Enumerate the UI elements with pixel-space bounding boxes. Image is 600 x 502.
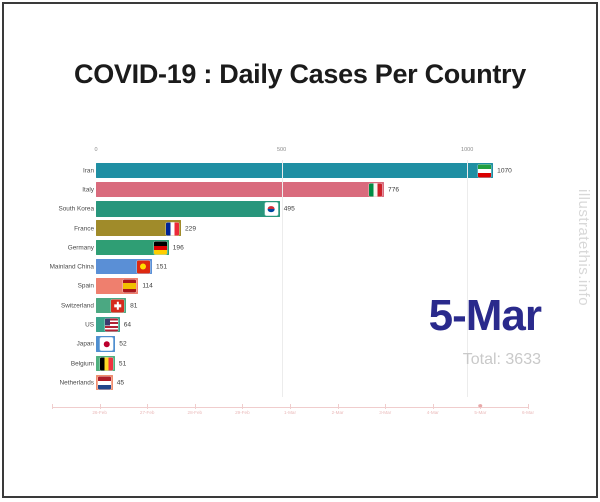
flag-graphic bbox=[123, 280, 136, 293]
bar-row[interactable]: France229 bbox=[34, 219, 534, 238]
timeline-tick-label: 4-Mar bbox=[427, 410, 439, 415]
flag-icon-japan bbox=[100, 338, 113, 351]
timeline-tick-label: 26-Feb bbox=[92, 410, 107, 415]
bar-value-label: 52 bbox=[119, 341, 126, 348]
bar-value-label: 64 bbox=[124, 322, 131, 329]
flag-graphic bbox=[105, 319, 118, 332]
timeline-tick bbox=[100, 404, 101, 409]
bar-fill[interactable] bbox=[96, 163, 493, 178]
timeline-tick bbox=[385, 404, 386, 409]
x-axis-ticks: 05001000 bbox=[34, 147, 534, 161]
flag-graphic bbox=[98, 376, 111, 389]
flag-icon-italy bbox=[369, 183, 382, 196]
flag-icon-iran bbox=[478, 164, 491, 177]
bar-country-label: Switzerland bbox=[61, 302, 94, 309]
timeline-tick-label: 6-Mar bbox=[522, 410, 534, 415]
bar-row[interactable]: Netherlands45 bbox=[34, 373, 534, 392]
timeline-tick bbox=[433, 404, 434, 409]
x-tick-label: 0 bbox=[94, 147, 97, 153]
current-date-label: 5-Mar bbox=[429, 294, 541, 338]
flag-icon-china bbox=[137, 261, 150, 274]
bar-row[interactable]: Iran1070 bbox=[34, 161, 534, 180]
timeline-tick bbox=[195, 404, 196, 409]
bar-fill[interactable] bbox=[96, 201, 280, 216]
flag-icon-netherlands bbox=[98, 376, 111, 389]
flag-graphic bbox=[478, 164, 491, 177]
timeline-tick bbox=[290, 404, 291, 409]
bar-value-label: 229 bbox=[185, 225, 196, 232]
flag-graphic bbox=[100, 338, 113, 351]
watermark-text: illustratethis.info bbox=[568, 189, 592, 389]
x-tick-label: 500 bbox=[277, 147, 286, 153]
bar-fill[interactable] bbox=[96, 182, 384, 197]
bar-country-label: Germany bbox=[68, 244, 94, 251]
bar-country-label: US bbox=[85, 322, 94, 329]
page-title: COVID-19 : Daily Cases Per Country bbox=[4, 59, 596, 90]
bar-row[interactable]: Mainland China151 bbox=[34, 257, 534, 276]
flag-icon-skorea bbox=[265, 203, 278, 216]
timeline-position-marker[interactable] bbox=[479, 404, 483, 408]
bar-country-label: Spain bbox=[78, 283, 94, 290]
bar-country-label: Netherlands bbox=[60, 379, 94, 386]
timeline-tick bbox=[242, 404, 243, 409]
bar-country-label: Iran bbox=[83, 167, 94, 174]
flag-icon-swiss bbox=[111, 299, 124, 312]
timeline-scrubber[interactable]: 26-Feb27-Feb28-Feb29-Feb1-Mar2-Mar3-Mar4… bbox=[52, 404, 528, 424]
timeline-tick bbox=[338, 404, 339, 409]
chart-frame: COVID-19 : Daily Cases Per Country illus… bbox=[2, 2, 598, 498]
flag-graphic bbox=[265, 203, 278, 216]
flag-icon-germany bbox=[154, 241, 167, 254]
flag-graphic bbox=[100, 357, 113, 370]
bar-country-label: South Korea bbox=[58, 206, 94, 213]
bar-country-label: Italy bbox=[82, 186, 94, 193]
flag-graphic bbox=[369, 183, 382, 196]
bar-value-label: 776 bbox=[388, 186, 399, 193]
bar-value-label: 495 bbox=[284, 206, 295, 213]
bar-country-label: France bbox=[74, 225, 94, 232]
flag-icon-spain bbox=[123, 280, 136, 293]
bar-value-label: 45 bbox=[117, 379, 124, 386]
flag-icon-france bbox=[166, 222, 179, 235]
bar-value-label: 151 bbox=[156, 264, 167, 271]
flag-icon-us bbox=[105, 319, 118, 332]
bar-row[interactable]: Italy776 bbox=[34, 180, 534, 199]
date-overlay: 5-Mar Total: 3633 bbox=[429, 294, 541, 368]
flag-icon-belgium bbox=[100, 357, 113, 370]
bar-value-label: 196 bbox=[173, 244, 184, 251]
bar-country-label: Mainland China bbox=[50, 264, 94, 271]
bar-country-label: Japan bbox=[77, 341, 94, 348]
x-tick-label: 1000 bbox=[461, 147, 473, 153]
bar-country-label: Belgium bbox=[71, 360, 94, 367]
timeline-tick-label: 1-Mar bbox=[284, 410, 296, 415]
timeline-tick-label: 2-Mar bbox=[332, 410, 344, 415]
flag-graphic bbox=[137, 261, 150, 274]
timeline-tick bbox=[52, 404, 53, 409]
bar-value-label: 114 bbox=[142, 283, 153, 290]
timeline-tick-label: 28-Feb bbox=[188, 410, 203, 415]
bar-row[interactable]: South Korea495 bbox=[34, 200, 534, 219]
flag-graphic bbox=[111, 299, 124, 312]
timeline-tick-label: 29-Feb bbox=[235, 410, 250, 415]
timeline-tick bbox=[147, 404, 148, 409]
flag-graphic bbox=[166, 222, 179, 235]
gridline bbox=[282, 160, 283, 397]
bar-value-label: 51 bbox=[119, 360, 126, 367]
flag-graphic bbox=[154, 241, 167, 254]
total-label: Total: 3633 bbox=[429, 352, 541, 368]
bar-value-label: 1070 bbox=[497, 167, 512, 174]
bar-value-label: 81 bbox=[130, 302, 137, 309]
timeline-tick-label: 3-Mar bbox=[379, 410, 391, 415]
timeline-tick-label: 5-Mar bbox=[474, 410, 486, 415]
timeline-tick-label: 27-Feb bbox=[140, 410, 155, 415]
bar-row[interactable]: Germany196 bbox=[34, 238, 534, 257]
timeline-tick bbox=[528, 404, 529, 409]
